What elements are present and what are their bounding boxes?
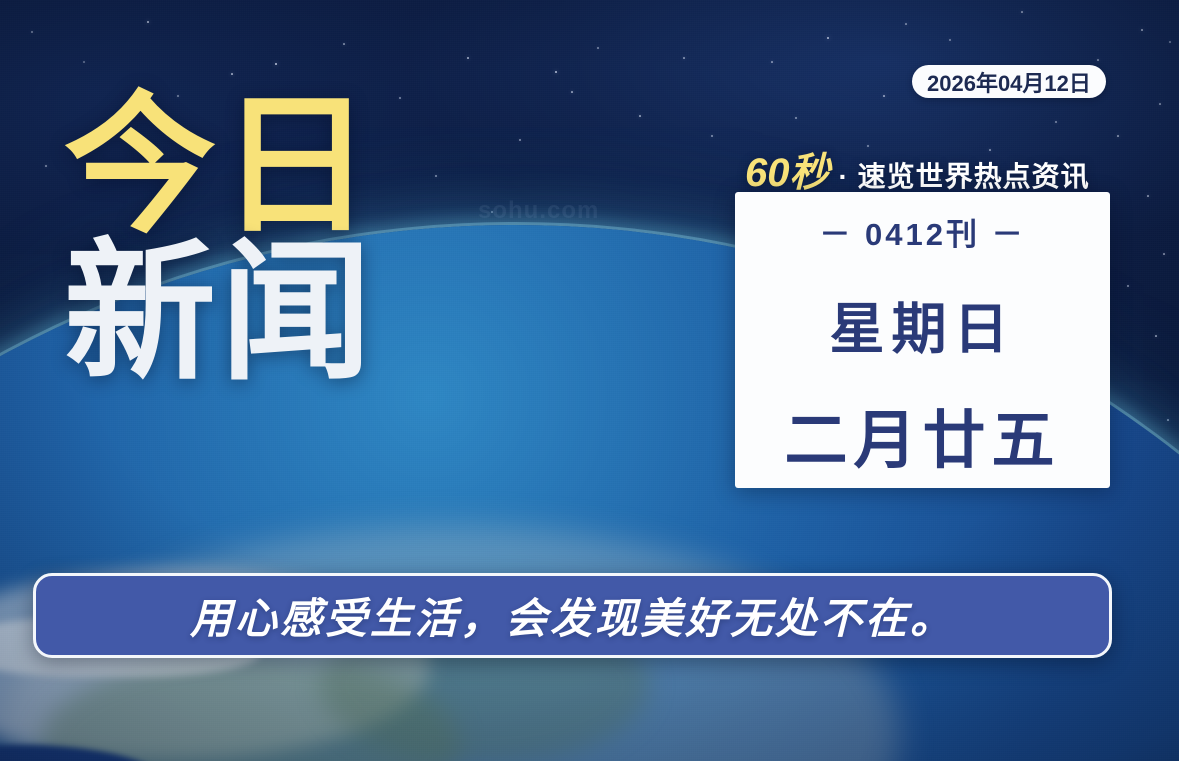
lunar-date-label: 二月廿五	[785, 390, 1061, 481]
source-watermark: sohu.com	[478, 197, 599, 225]
page-title-line2: 新闻	[64, 243, 376, 384]
news-poster: sohu.com 今日 新闻 2026年04月12日 60秒 · 速览世界热点资…	[0, 0, 1179, 761]
quote-banner: 用心感受生活，会发现美好无处不在。	[33, 573, 1112, 658]
issue-card: － 0412刊 － 星期日 二月廿五	[735, 192, 1110, 488]
weekday-label: 星期日	[829, 284, 1015, 364]
tagline-seconds: 60秒	[745, 140, 830, 198]
page-title: 今日 新闻	[64, 96, 376, 385]
tagline: 60秒 · 速览世界热点资讯	[745, 140, 1090, 198]
date-badge: 2026年04月12日	[912, 65, 1106, 98]
issue-number: － 0412刊 －	[819, 209, 1025, 254]
content-layer: sohu.com 今日 新闻 2026年04月12日 60秒 · 速览世界热点资…	[0, 0, 1179, 761]
tagline-text: · 速览世界热点资讯	[839, 155, 1090, 195]
page-title-line1: 今日	[64, 96, 376, 237]
quote-text: 用心感受生活，会发现美好无处不在。	[190, 585, 955, 646]
